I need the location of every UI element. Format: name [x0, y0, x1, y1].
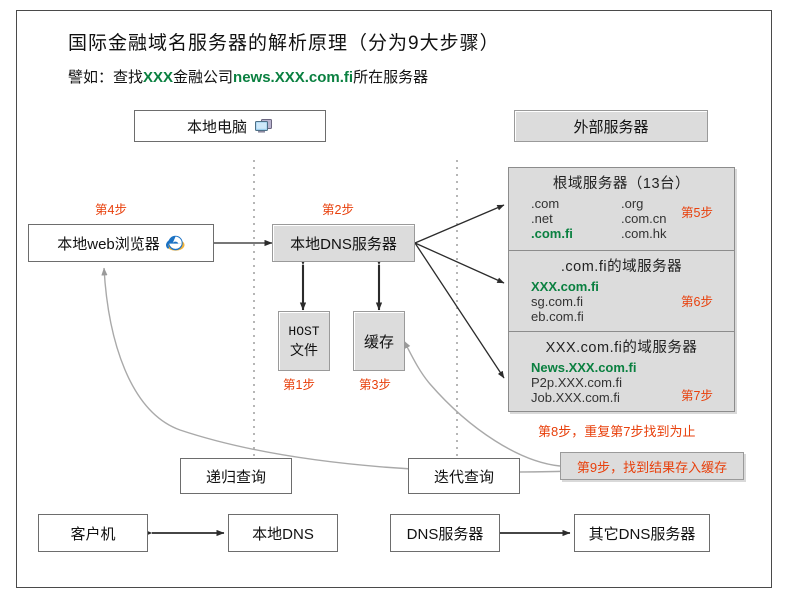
root-domain-servers-panel: 根域服务器（13台） .com .net .com.fi .org .com.c… — [509, 168, 734, 250]
cache-box: 缓存 — [353, 311, 405, 371]
local-dns-server-box: 本地DNS服务器 — [272, 224, 415, 262]
internet-explorer-icon — [166, 234, 185, 253]
host-file-label-line1: HOST — [288, 323, 319, 341]
step9-note: 第9步，找到结果存入缓存 — [577, 457, 727, 476]
subtitle-company: XXX — [143, 69, 173, 86]
external-servers-header-label: 外部服务器 — [573, 116, 648, 137]
comfi-domain-servers-panel: .com.fi的域服务器 XXX.com.fi sg.com.fi eb.com… — [509, 250, 734, 331]
comfi-domain-servers-title: .com.fi的域服务器 — [509, 255, 734, 276]
page-subtitle: 譬如：查找XXX金融公司news.XXX.com.fi所在服务器 — [68, 66, 428, 87]
iterative-query-box: 迭代查询 — [408, 458, 520, 494]
browser-step-label: 第4步 — [95, 199, 127, 218]
host-file-step-label: 第1步 — [283, 374, 315, 393]
subtitle-mid: 金融公司 — [173, 69, 233, 86]
local-dns-step-label: 第2步 — [322, 199, 354, 218]
dns-server-legend-label: DNS服务器 — [407, 523, 484, 544]
dns-server-legend-box: DNS服务器 — [390, 514, 500, 552]
comfi-domain-entry: eb.com.fi — [531, 309, 734, 324]
other-dns-servers-label: 其它DNS服务器 — [589, 523, 696, 544]
host-file-box: HOST 文件 — [278, 311, 330, 371]
external-servers-header: 外部服务器 — [514, 110, 708, 142]
root-domain-entry: .org — [621, 196, 667, 211]
step9-callout-box: 第9步，找到结果存入缓存 — [560, 452, 744, 480]
local-dns-legend-label: 本地DNS — [252, 523, 314, 544]
host-file-label-line2: 文件 — [290, 341, 318, 359]
subtitle-suffix: 所在服务器 — [353, 69, 428, 86]
local-computer-box: 本地电脑 — [134, 110, 326, 142]
root-domain-entry: .com.cn — [621, 211, 667, 226]
local-computer-label: 本地电脑 — [187, 116, 247, 137]
local-dns-legend-box: 本地DNS — [228, 514, 338, 552]
root-domain-servers-title: 根域服务器（13台） — [509, 172, 734, 193]
desktop-computer-icon — [255, 118, 273, 134]
external-servers-panel: 根域服务器（13台） .com .net .com.fi .org .com.c… — [508, 167, 735, 412]
comfi-domain-servers-step-label: 第6步 — [681, 291, 713, 310]
local-dns-server-label: 本地DNS服务器 — [290, 233, 397, 254]
xxx-comfi-domain-servers-panel: XXX.com.fi的域服务器 News.XXX.com.fi P2p.XXX.… — [509, 331, 734, 411]
xxx-comfi-domain-entry-highlight: News.XXX.com.fi — [531, 360, 734, 375]
recursive-query-box: 递归查询 — [180, 458, 292, 494]
cache-step-label: 第3步 — [359, 374, 391, 393]
cache-label: 缓存 — [364, 331, 394, 352]
iterative-query-label: 迭代查询 — [434, 466, 494, 487]
xxx-comfi-domain-servers-step-label: 第7步 — [681, 385, 713, 404]
step8-note: 第8步，重复第7步找到为止 — [538, 421, 695, 440]
recursive-query-label: 递归查询 — [206, 466, 266, 487]
root-domain-servers-step-label: 第5步 — [681, 202, 713, 221]
root-domain-entry: .com.hk — [621, 226, 667, 241]
client-label: 客户机 — [70, 523, 115, 544]
xxx-comfi-domain-servers-title: XXX.com.fi的域服务器 — [509, 336, 734, 357]
local-web-browser-box: 本地web浏览器 — [28, 224, 214, 262]
subtitle-domain: news.XXX.com.fi — [233, 69, 353, 86]
local-web-browser-label: 本地web浏览器 — [57, 233, 160, 254]
subtitle-prefix: 譬如：查找 — [68, 69, 143, 86]
other-dns-servers-box: 其它DNS服务器 — [574, 514, 710, 552]
client-box: 客户机 — [38, 514, 148, 552]
page-title: 国际金融域名服务器的解析原理（分为9大步骤） — [68, 28, 500, 55]
